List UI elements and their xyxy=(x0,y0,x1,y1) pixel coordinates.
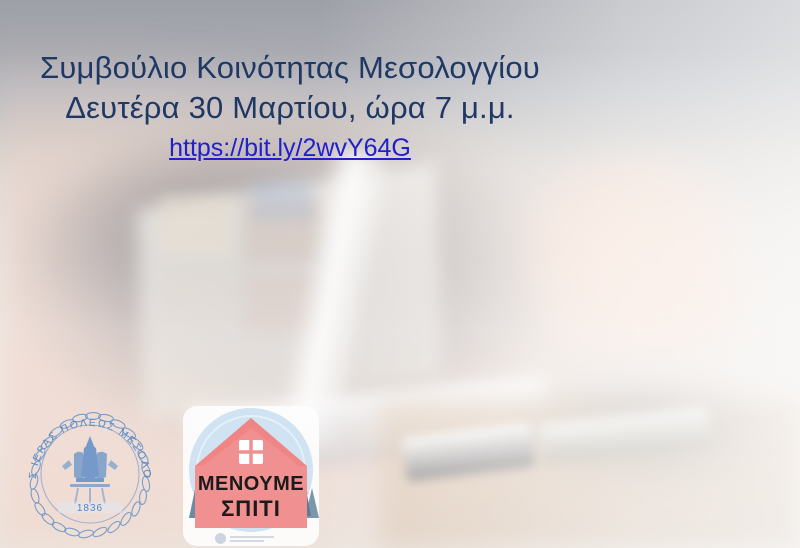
poster-canvas: Συμβούλιο Κοινότητας Μεσολογγίου Δευτέρα… xyxy=(0,0,800,548)
video-call-tile xyxy=(252,180,312,220)
page-title: Συμβούλιο Κοινότητας Μεσολογγίου xyxy=(0,48,580,88)
video-call-tile xyxy=(160,196,234,258)
stay-home-line-2: ΣΠΙΤΙ xyxy=(221,496,281,521)
poster-heading-block: Συμβούλιο Κοινότητας Μεσολογγίου Δευτέρα… xyxy=(0,48,580,164)
stay-home-line-1: ΜΕΝΟΥΜΕ xyxy=(198,473,304,495)
event-datetime: Δευτέρα 30 Μαρτίου, ώρα 7 μ.μ. xyxy=(0,88,580,128)
meeting-link-row: https://bit.ly/2wvY64G xyxy=(0,132,580,164)
video-call-tile xyxy=(160,268,234,328)
municipality-seal: ΔΗΜΟΣ ΙΕΡΑΣ ΠΟΛΕΩΣ ΜΕΣΟΛΟΓΓΙΟΥ 1836 xyxy=(14,398,166,548)
government-emblem-text-placeholder xyxy=(230,536,274,542)
stay-home-campaign-logo: ΜΕΝΟΥΜΕ ΣΠΙΤΙ xyxy=(181,404,321,548)
meeting-link[interactable]: https://bit.ly/2wvY64G xyxy=(169,134,411,162)
seal-emblem-figures xyxy=(62,436,118,504)
government-emblem-mark xyxy=(215,533,274,544)
government-emblem-icon xyxy=(215,533,226,544)
hand-blur xyxy=(460,150,760,410)
seal-year: 1836 xyxy=(77,503,103,514)
